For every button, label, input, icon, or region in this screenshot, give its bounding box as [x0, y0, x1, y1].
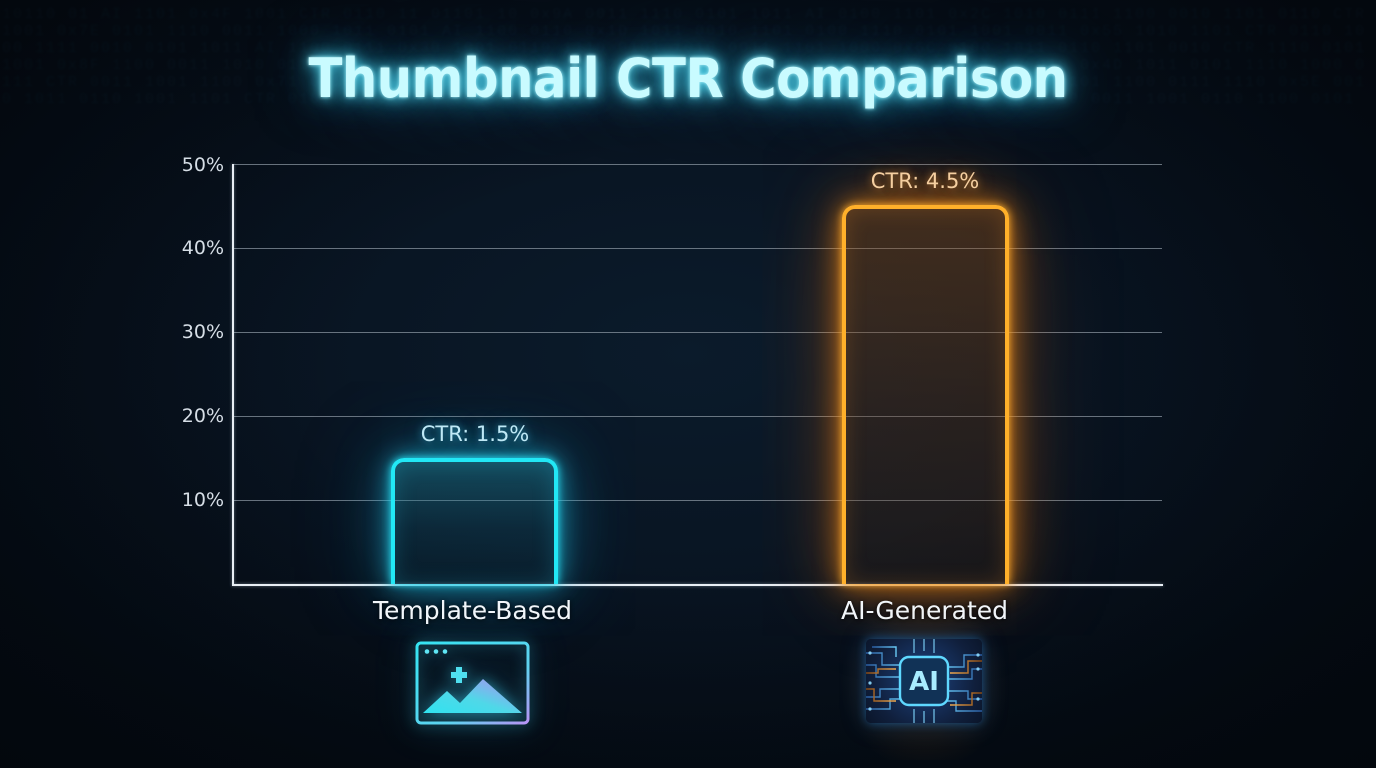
ai-chip-icon: AI [866, 639, 982, 723]
bar-fill-template [395, 462, 554, 584]
y-tick-label-10: 10% [182, 489, 224, 511]
ai-chip-label: AI [909, 667, 939, 697]
x-axis-line [232, 584, 1163, 586]
y-axis-line [232, 164, 234, 585]
bar-value-label-ai: CTR: 4.5% [829, 169, 1021, 193]
gridline-30 [233, 332, 1162, 333]
bar-value-label-template: CTR: 1.5% [379, 422, 571, 446]
bar-template-based[interactable] [391, 458, 558, 584]
gridline-20 [233, 416, 1162, 417]
y-tick-label-50: 50% [182, 154, 224, 176]
chart-canvas: 10110 01 AI 1101 0x4F 1001 CTR 0110 11 0… [0, 0, 1376, 768]
y-tick-label-20: 20% [182, 405, 224, 427]
gridline-40 [233, 248, 1162, 249]
y-tick-label-40: 40% [182, 237, 224, 259]
ai-chip-icon-svg: AI [866, 639, 982, 723]
chart-title: Thumbnail CTR Comparison [55, 47, 1321, 110]
image-placeholder-icon-svg [413, 639, 532, 727]
y-tick-label-30: 30% [182, 321, 224, 343]
category-label-ai-generated: AI-Generated [782, 596, 1067, 625]
gridline-10 [233, 500, 1162, 501]
image-placeholder-icon [413, 639, 532, 727]
category-label-template-based: Template-Based [330, 596, 615, 625]
bar-fill-ai [846, 209, 1005, 584]
gridline-50 [233, 164, 1162, 165]
plot-area: 10% 20% 30% 40% 50% CTR: 1.5% CTR: 4.5% [233, 164, 1162, 585]
y-axis-tick-labels: 10% 20% 30% 40% 50% [168, 164, 224, 585]
bar-ai-generated[interactable] [842, 205, 1009, 584]
